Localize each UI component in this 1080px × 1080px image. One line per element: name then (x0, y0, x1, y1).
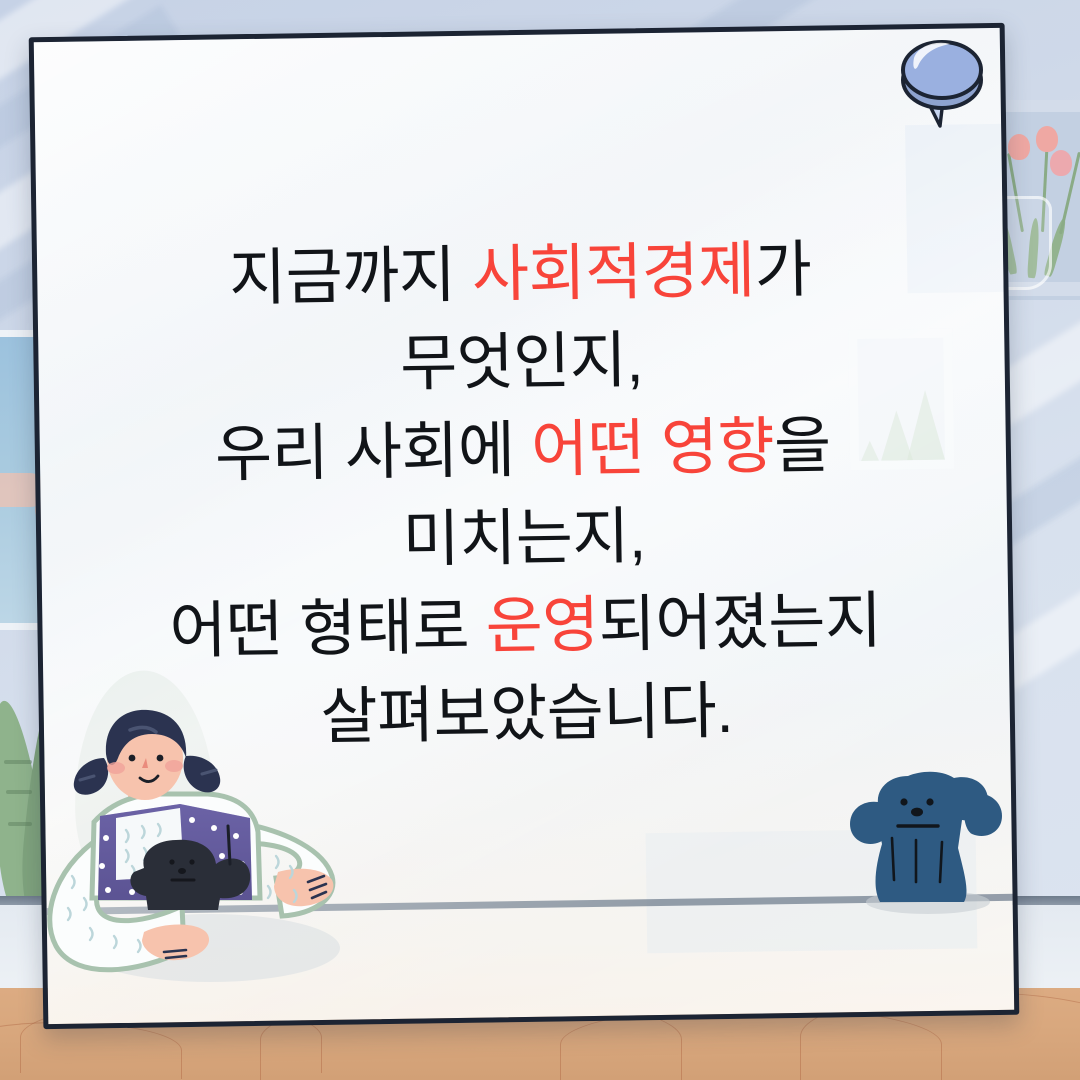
line-4-segment-1: 미치는지, (402, 502, 646, 575)
message-line-3: 우리 사회에 어떤 영향을 (85, 401, 960, 502)
line-6-segment-1: 살펴보았습니다. (320, 677, 733, 752)
line-3-segment-3: 을 (774, 411, 832, 481)
line-3-segment-1: 우리 사회에 (215, 416, 532, 490)
line-2-segment-1: 무엇인지, (400, 326, 644, 399)
sitting-dog-illustration (836, 752, 1016, 932)
line-5-segment-3: 되어졌는지 (598, 587, 882, 660)
pushpin-icon[interactable] (882, 22, 1002, 142)
message-line-4: 미치는지, (87, 489, 962, 590)
message-line-2: 무엇인지, (84, 313, 959, 414)
message-line-1: 지금까지 사회적경제가 (83, 225, 958, 326)
line-5-highlight: 운영 (485, 591, 599, 662)
line-1-highlight: 사회적경제 (472, 237, 756, 310)
girl-with-puppy-illustration (32, 700, 352, 1000)
line-1-segment-3: 가 (754, 236, 812, 306)
scene-root: 지금까지 사회적경제가 무엇인지, 우리 사회에 어떤 영향을 미치는지, 어떤… (0, 0, 1080, 1080)
line-3-highlight: 어떤 영향 (531, 412, 775, 485)
message-text-block: 지금까지 사회적경제가 무엇인지, 우리 사회에 어떤 영향을 미치는지, 어떤… (37, 224, 1011, 766)
message-line-5: 어떤 형태로 운영되어졌는지 (88, 577, 963, 678)
line-1-segment-1: 지금까지 (229, 241, 473, 314)
line-5-segment-1: 어떤 형태로 (169, 593, 486, 667)
